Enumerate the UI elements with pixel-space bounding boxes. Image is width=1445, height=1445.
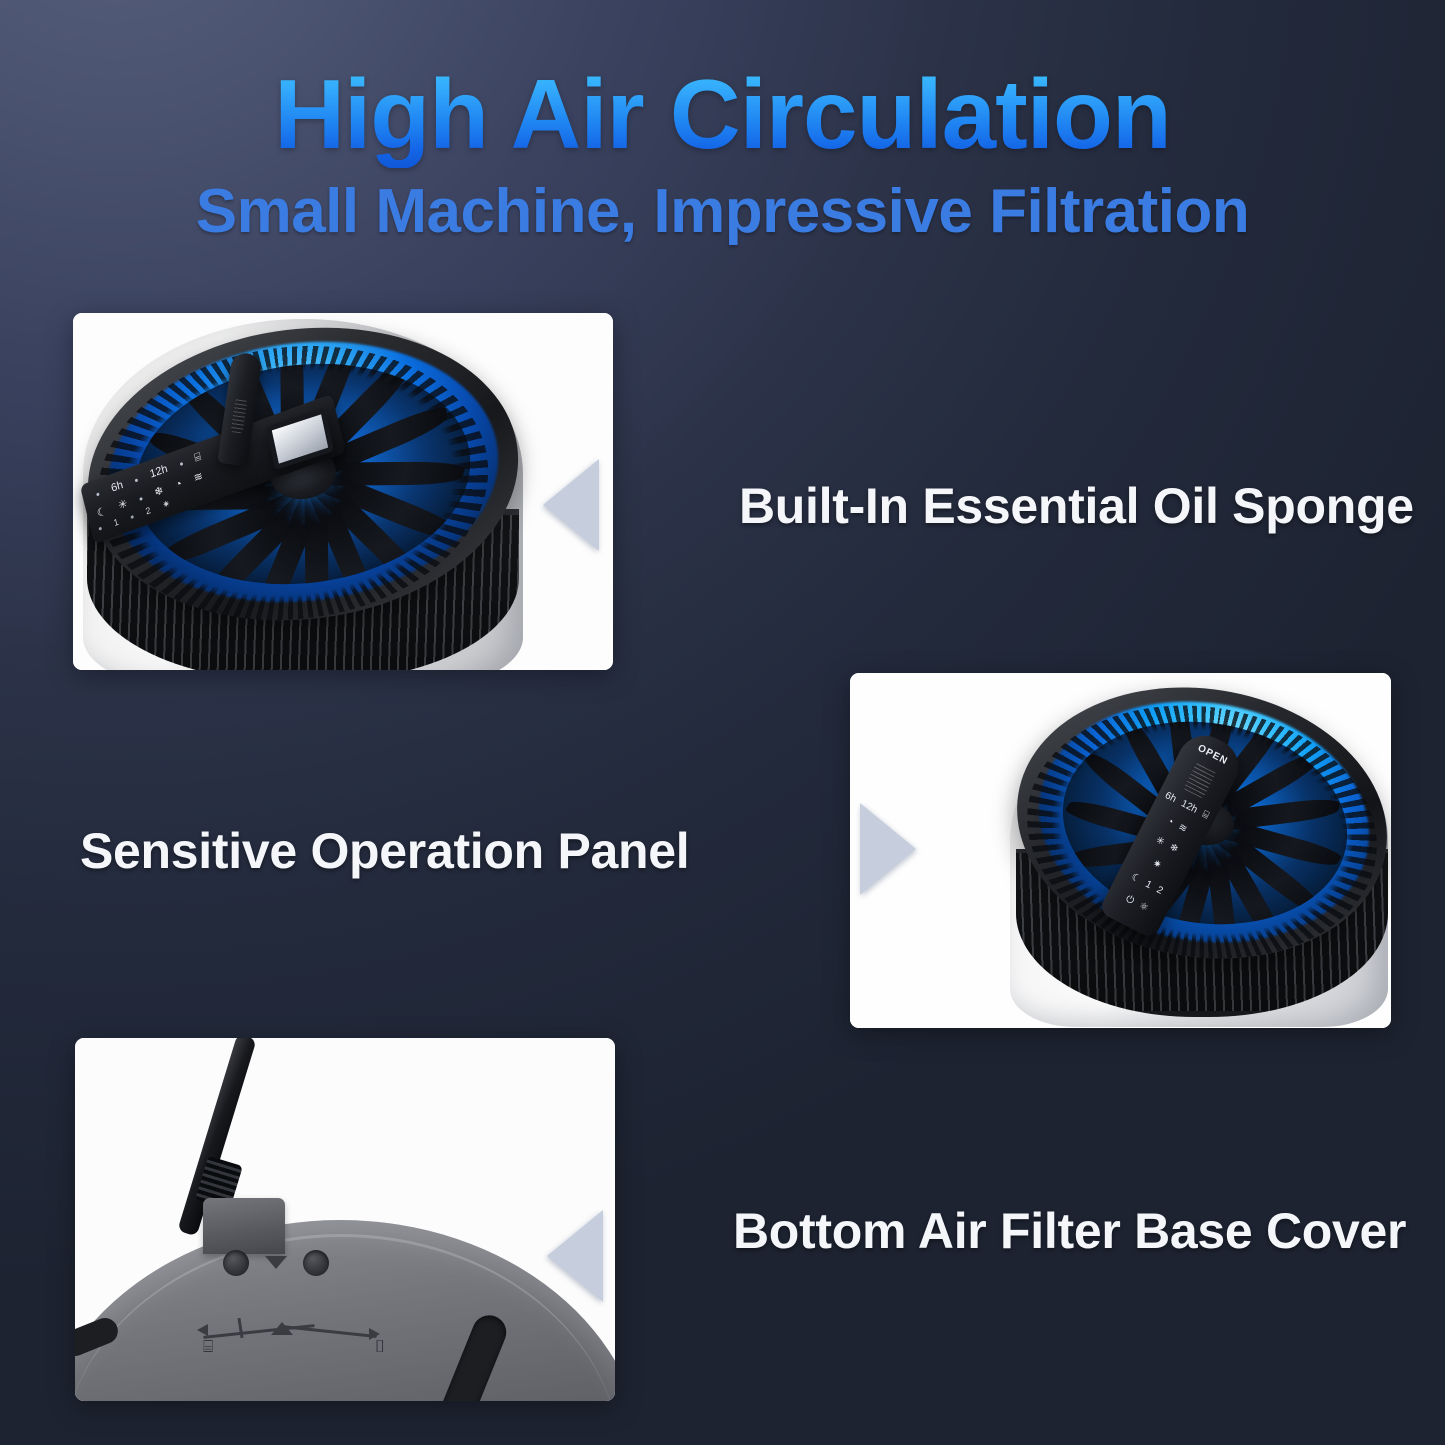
indicator-dot	[130, 515, 134, 519]
uv-light-icon: ✷	[162, 499, 171, 510]
header-block: High Air Circulation Small Machine, Impr…	[0, 0, 1445, 247]
speed-1-label: 1	[113, 518, 120, 528]
brightness-icon: ✳	[1154, 835, 1166, 849]
snowflake-icon: ❄	[153, 485, 164, 499]
control-row-light: ✳ ❄	[1154, 835, 1180, 856]
pointer-arrow-left-icon	[543, 459, 599, 551]
feature-caption-operation-panel: Sensitive Operation Panel	[80, 822, 689, 880]
timer-6h-label: 6h	[1163, 790, 1178, 805]
filter-reset-icon: ⌸	[193, 452, 202, 465]
product-photo-top-view: 6h 12h ⌸ ☾ ✳ ❄ ◔ ≋ 1	[73, 313, 613, 670]
feature-caption-base-cover: Bottom Air Filter Base Cover	[733, 1202, 1406, 1260]
timer-icon: ◔	[1165, 816, 1175, 829]
fan-icon: ≋	[193, 471, 204, 485]
feature-graphic-page: High Air Circulation Small Machine, Impr…	[0, 0, 1445, 1445]
night-mode-icon: ☾	[96, 506, 108, 520]
feature-card-essential-oil-sponge: 6h 12h ⌸ ☾ ✳ ❄ ◔ ≋ 1	[73, 313, 613, 670]
lock-icon: ⌷	[375, 1338, 385, 1355]
page-title: High Air Circulation	[0, 62, 1445, 168]
indicator-dot	[96, 492, 100, 496]
control-row-power: ⏻ ⚛	[1124, 894, 1150, 915]
control-row-uv: ✷	[1151, 858, 1163, 872]
indicator-dot	[179, 462, 183, 466]
timer-6h-label: 6h	[110, 480, 124, 495]
feature-card-base-cover: ⌸ ⌷	[75, 1038, 615, 1401]
feature-caption-essential-oil-sponge: Built-In Essential Oil Sponge	[739, 477, 1414, 535]
speed-2-label: 2	[1155, 885, 1165, 897]
cord-socket-housing	[203, 1198, 285, 1254]
night-mode-icon: ☾	[1129, 872, 1142, 886]
base-screw	[223, 1250, 249, 1276]
page-subtitle: Small Machine, Impressive Filtration	[0, 176, 1445, 247]
ionizer-icon: ⚛	[1137, 900, 1150, 914]
arrow-left-icon	[197, 1324, 208, 1336]
timer-icon: ◔	[174, 479, 183, 492]
indicator-dot	[98, 527, 102, 531]
indicator-dot	[139, 497, 143, 501]
feature-card-operation-panel: OPEN 6h 12h ⌸ ◔ ≋ ✳ ❄	[850, 673, 1391, 1028]
unlock-icon: ⌸	[203, 1338, 213, 1355]
triangle-down-icon	[265, 1256, 287, 1269]
uv-light-icon: ✷	[1151, 858, 1163, 872]
snowflake-icon: ❄	[1167, 842, 1179, 856]
speed-2-label: 2	[145, 506, 152, 516]
product-photo-angled-top: OPEN 6h 12h ⌸ ◔ ≋ ✳ ❄	[850, 673, 1391, 1028]
timer-12h-label: 12h	[1179, 798, 1199, 815]
control-row-speed: ☾ 1 2	[1129, 872, 1164, 897]
timer-12h-label: 12h	[149, 464, 169, 481]
base-screw	[303, 1250, 329, 1276]
speaker-grille-icon	[1183, 762, 1216, 799]
pointer-arrow-left-icon	[547, 1210, 603, 1302]
product-photo-base-cover: ⌸ ⌷	[75, 1038, 615, 1401]
control-row-timer-fan: ◔ ≋	[1165, 816, 1189, 836]
speed-1-label: 1	[1143, 879, 1153, 891]
fan-icon: ≋	[1176, 822, 1188, 836]
filter-reset-icon: ⌸	[1200, 809, 1210, 822]
indicator-dot	[135, 478, 139, 482]
pointer-arrow-right-icon	[860, 803, 916, 895]
power-icon: ⏻	[1124, 894, 1136, 907]
brightness-icon: ✳	[117, 498, 128, 512]
